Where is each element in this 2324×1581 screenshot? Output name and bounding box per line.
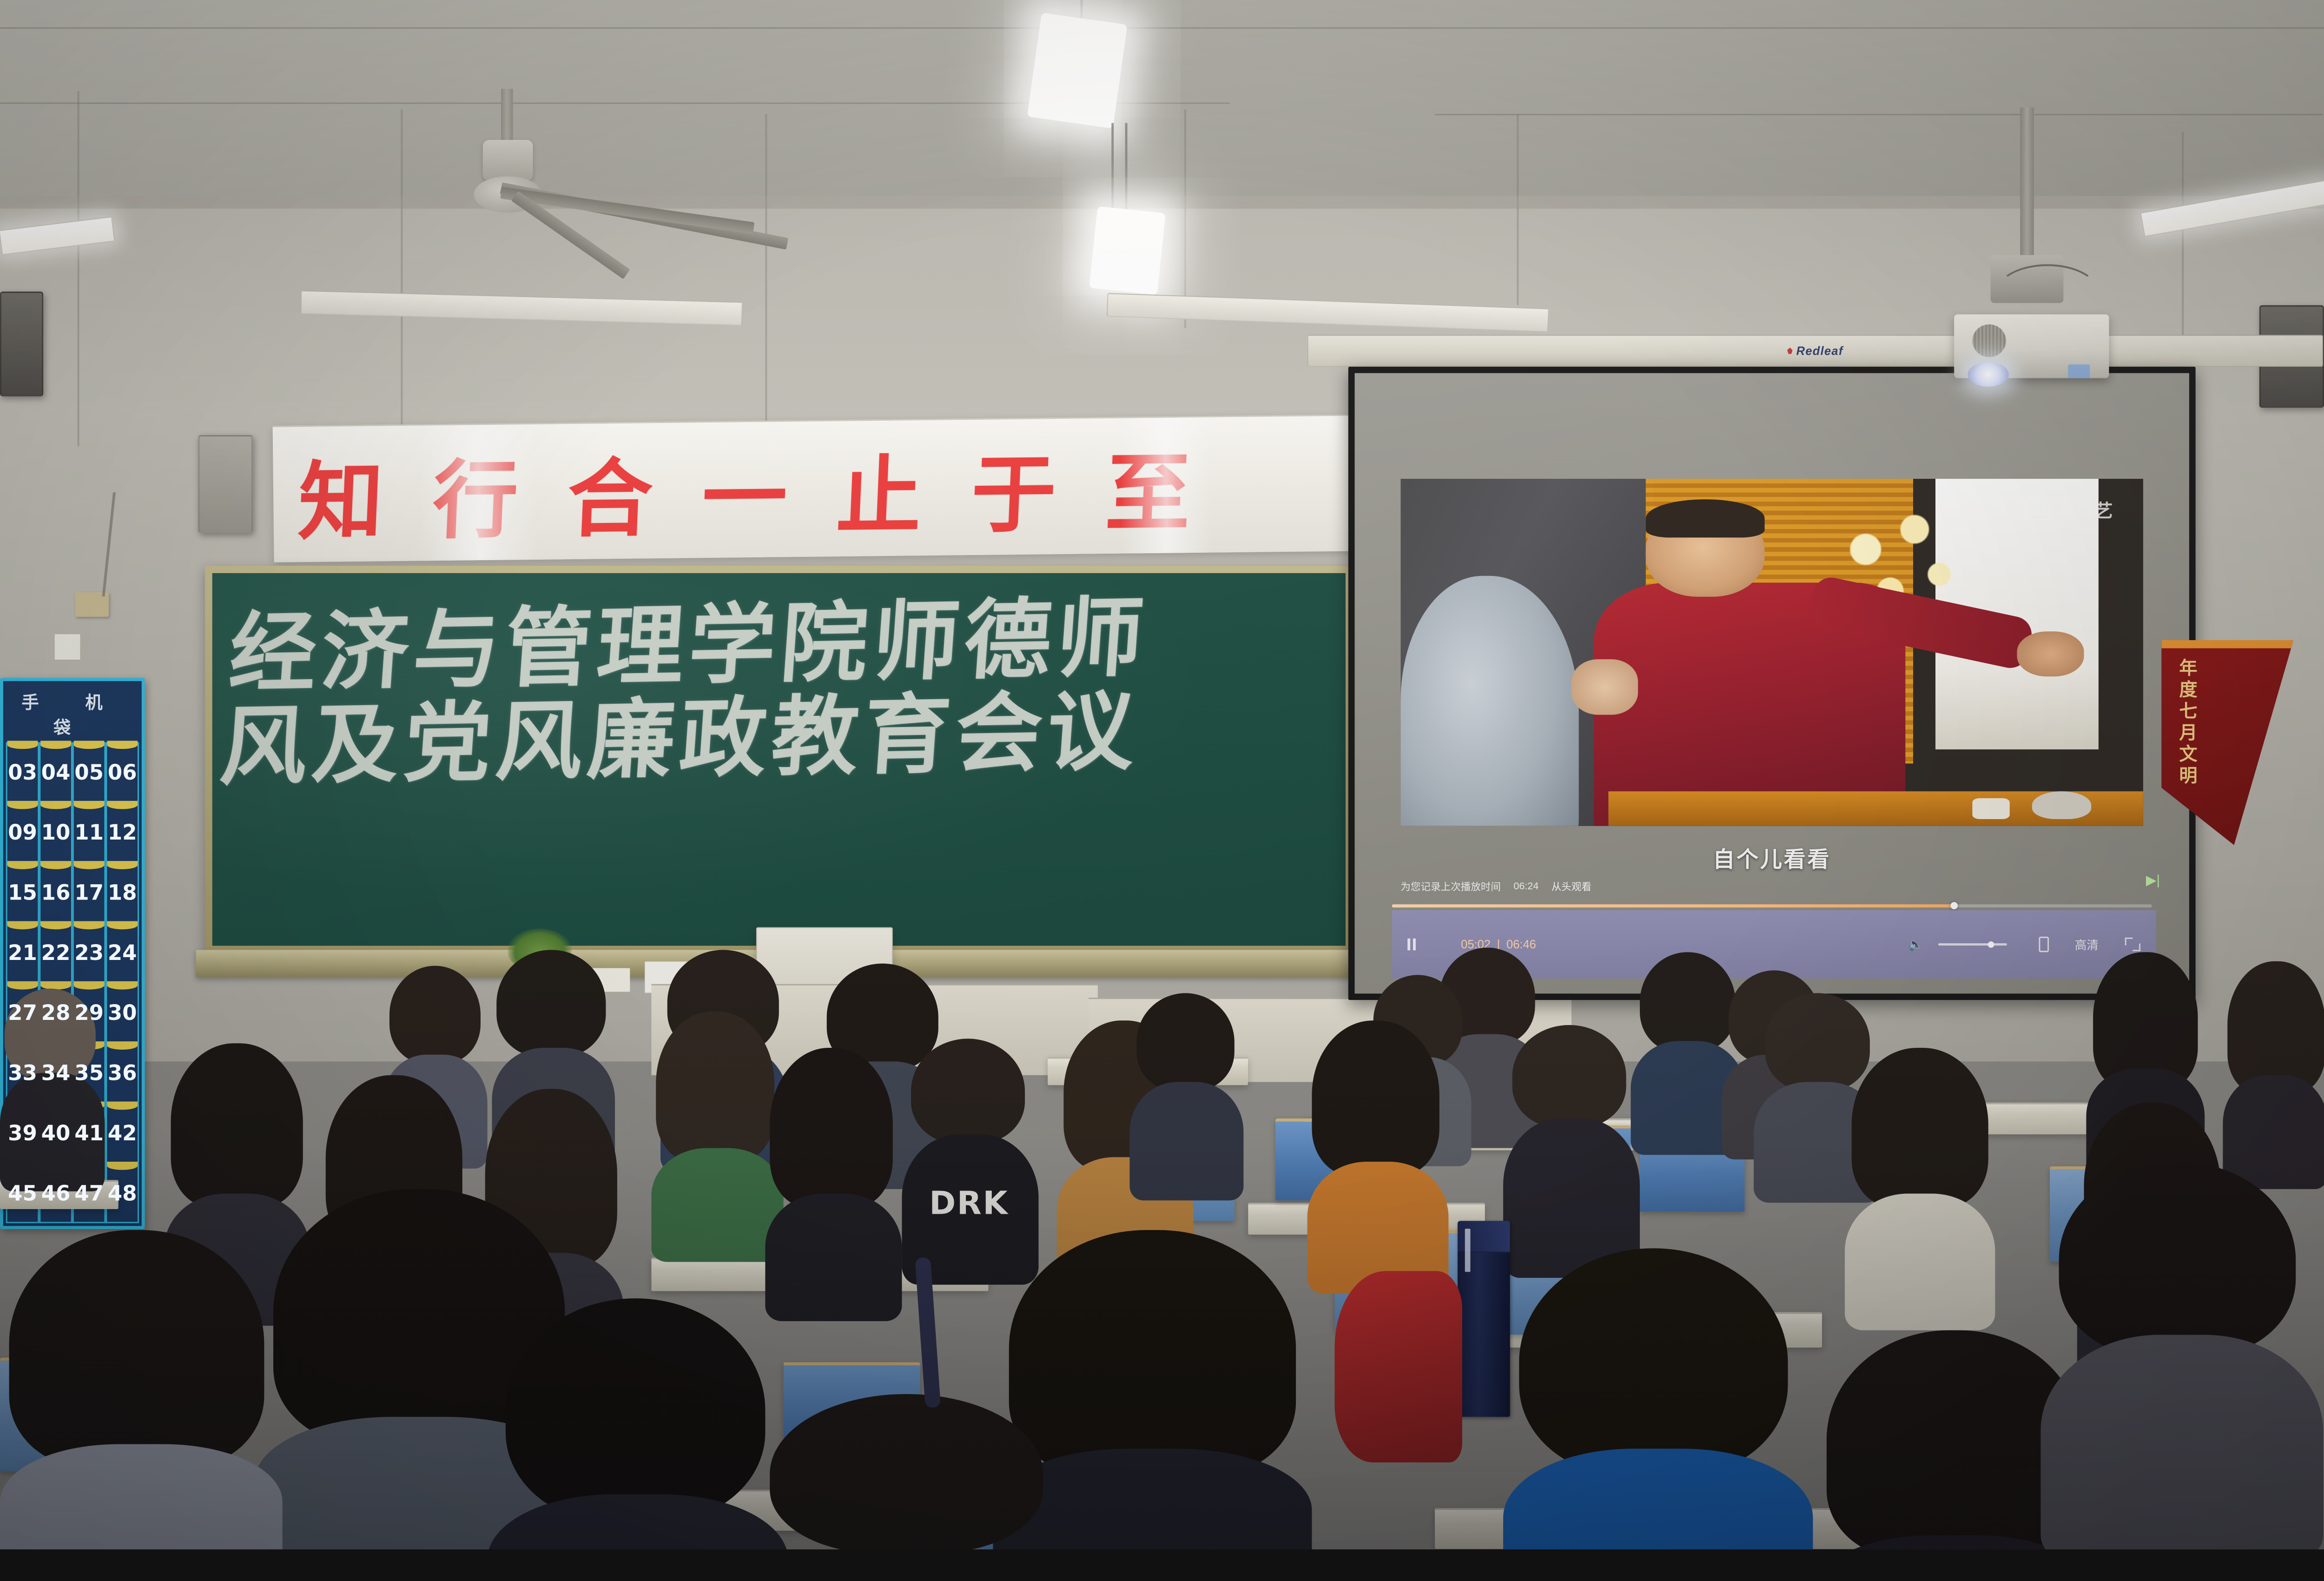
pocket-cell: 18	[106, 862, 139, 922]
video-cup	[1973, 798, 2010, 819]
pocket-number: 34	[41, 1060, 71, 1085]
pocket-cell: 36	[106, 1043, 139, 1103]
projector-vent	[1972, 324, 2006, 357]
pocket-cell: 17	[73, 862, 106, 922]
wall-band	[0, 196, 2324, 208]
pocket-number: 41	[74, 1121, 104, 1145]
pocket-number: 30	[108, 1000, 137, 1025]
audience-member	[1503, 1025, 1640, 1271]
hair	[770, 1394, 1043, 1549]
pocket-number: 33	[8, 1060, 37, 1085]
pocket-number: 45	[8, 1181, 37, 1205]
pocket-number: 22	[41, 940, 71, 965]
pocket-number: 16	[41, 880, 71, 905]
pocket-number: 18	[108, 880, 137, 905]
hair	[9, 1230, 264, 1467]
pocket-number: 09	[8, 820, 37, 845]
video-actor-hair	[1646, 499, 1765, 537]
brand-label: Redleaf	[1796, 344, 1843, 357]
fullscreen-button[interactable]	[2125, 938, 2140, 951]
wall-joint	[78, 91, 79, 446]
torso-light-coat	[1845, 1194, 1995, 1330]
pocket-cell: 11	[73, 802, 106, 862]
audience-member-foreground	[0, 1230, 283, 1549]
fan-motor	[483, 140, 533, 181]
hair	[1512, 1025, 1626, 1128]
jacket-logo-text: DRK	[929, 1184, 1009, 1222]
audience-member-foreground	[1503, 1248, 1813, 1549]
hair	[1312, 1020, 1439, 1175]
pocket-number: 47	[74, 1181, 104, 1205]
pocket-number: 24	[108, 940, 137, 965]
pocket-cell: 12	[106, 802, 139, 862]
pocket-cell: 22	[39, 923, 73, 983]
pocket-cell: 15	[6, 862, 40, 922]
pocket-cell: 09	[6, 802, 40, 862]
pocket-number: 06	[108, 760, 137, 785]
ceiling-seam	[1435, 114, 2323, 115]
hanging-fluorescent-light	[1027, 13, 1128, 128]
pocket-cell: 06	[106, 742, 139, 802]
pocket-number: 04	[41, 760, 71, 785]
pocket-cell: 04	[39, 742, 73, 802]
fullscreen-icon	[2125, 938, 2140, 951]
light-wire	[1125, 123, 1128, 214]
video-actor-hand-left	[1571, 659, 1638, 715]
hair	[2059, 1162, 2296, 1357]
pocket-number: 05	[74, 760, 104, 785]
audience-member-foreground	[2040, 1162, 2323, 1549]
iqiyi-logo-text: 爱奇艺	[2057, 496, 2113, 523]
pocket-number: 42	[108, 1121, 137, 1145]
pocket-cell: 23	[73, 923, 106, 983]
pocket-number: 15	[8, 880, 37, 905]
audience-member-foreground	[488, 1298, 788, 1549]
volume-button[interactable]: 🔈	[1908, 938, 1923, 952]
hair	[171, 1043, 303, 1207]
audience-member-foreground	[752, 1394, 1061, 1549]
torso	[2040, 1335, 2323, 1549]
resume-playback-tooltip[interactable]: 为您记录上次播放时间 06:24 从头观看	[1400, 879, 1591, 893]
wall-speaker-left	[198, 435, 253, 533]
audience-member	[2223, 961, 2324, 1166]
cast-button[interactable]	[2039, 937, 2049, 952]
audience-member	[1307, 1020, 1449, 1266]
pocket-cell: 10	[39, 802, 73, 862]
audience-member	[765, 1048, 902, 1285]
hair	[656, 1012, 774, 1162]
wall-joint	[401, 109, 403, 428]
iqiyi-logo-icon: iQIYI	[2024, 498, 2052, 521]
ceiling-fan	[446, 89, 947, 216]
pocket-number: 40	[41, 1121, 71, 1145]
pocket-cell: 16	[39, 862, 73, 922]
cast-icon	[2039, 937, 2049, 952]
pocket-cell: 05	[73, 742, 106, 802]
ceiling-seam	[0, 27, 2324, 29]
hair	[1519, 1248, 1788, 1476]
pocket-cell: 48	[106, 1163, 139, 1223]
torso	[651, 1148, 783, 1262]
light-wire	[1111, 123, 1114, 214]
pocket-number: 23	[74, 940, 104, 965]
blackboard-line-1: 经济与管理学院师德师	[227, 591, 1346, 697]
classroom-photograph: 知 行 合 一 止 于 至 经济与管理学院师德师 风及党风廉政教育会议 粉笔 R…	[0, 0, 2324, 1549]
torso-blue-jacket	[1503, 1449, 1813, 1549]
pocket-cell: 30	[106, 983, 139, 1043]
volume-slider[interactable]	[1938, 943, 2007, 946]
blackboard: 经济与管理学院师德师 风及党风廉政教育会议	[205, 566, 1353, 953]
pocket-cell: 42	[106, 1103, 139, 1163]
pocket-number: 17	[74, 880, 104, 905]
torso	[1129, 1082, 1243, 1201]
wall-speaker-far-left	[0, 291, 43, 396]
progress-knob[interactable]	[1950, 902, 1958, 910]
blackboard-line-2: 风及党风廉政教育会议	[218, 682, 1346, 793]
pocket-number: 46	[41, 1181, 71, 1205]
progress-bar[interactable]	[1392, 904, 2152, 907]
pocket-number: 12	[108, 820, 137, 845]
audience-member	[651, 1012, 783, 1230]
hair	[390, 966, 481, 1064]
thermos-highlight	[1465, 1229, 1470, 1272]
projection-screen-housing: Redleaf	[1307, 335, 2323, 367]
hair	[770, 1048, 893, 1207]
pause-button[interactable]	[1407, 939, 1416, 950]
quality-selector[interactable]: 高清	[2075, 936, 2099, 953]
torso	[0, 1444, 283, 1549]
video-teapot	[2032, 791, 2091, 819]
leaf-icon	[1787, 348, 1793, 354]
video-player[interactable]: iQIYI 爱奇艺 自个儿看看 为您记录上次播放时间 06:24 从头观看 ▶|	[1355, 373, 2189, 994]
video-frame[interactable]: iQIYI 爱奇艺	[1400, 479, 2143, 826]
audience-member	[1845, 1048, 1995, 1303]
pause-icon	[1407, 939, 1416, 950]
restart-from-beginning-link[interactable]: 从头观看	[1552, 879, 1591, 893]
torso	[488, 1494, 788, 1549]
thermos-flask	[1458, 1221, 1510, 1416]
hair	[496, 950, 606, 1057]
pocket-cell: 24	[106, 923, 139, 983]
projector-mount-rod	[2020, 107, 2033, 258]
blackboard-surface: 经济与管理学院师德师 风及党风廉政教育会议	[212, 573, 1346, 946]
projection-screen: iQIYI 爱奇艺 自个儿看看 为您记录上次播放时间 06:24 从头观看 ▶|	[1348, 367, 2196, 1000]
wall-banner: 知 行 合 一 止 于 至	[273, 414, 1358, 562]
pocket-number: 27	[8, 1000, 37, 1025]
video-actor-hand-right	[2017, 631, 2084, 676]
wall-switch-plate	[54, 633, 81, 661]
volume-icon: 🔈	[1908, 938, 1923, 952]
audience-member	[1129, 993, 1243, 1189]
pocket-number: 39	[8, 1121, 37, 1145]
resume-timestamp: 06:24	[1513, 880, 1538, 892]
hair	[506, 1298, 766, 1521]
pocket-number: 21	[8, 940, 37, 965]
resume-message: 为您记录上次播放时间	[1400, 879, 1501, 893]
fan-rod	[501, 89, 513, 143]
red-coat	[1334, 1271, 1462, 1462]
pocket-number: 03	[8, 760, 37, 785]
screen-brand: Redleaf	[1787, 344, 1843, 357]
hair	[1852, 1048, 1988, 1207]
pocket-cell: 03	[6, 742, 40, 802]
iqiyi-watermark: iQIYI 爱奇艺	[2024, 496, 2113, 523]
video-subtitle: 自个儿看看	[1355, 841, 2189, 873]
pocket-cell: 21	[6, 923, 40, 983]
next-episode-icon[interactable]: ▶|	[2146, 873, 2160, 888]
hanging-fluorescent-light	[1089, 206, 1166, 295]
pocket-number: 10	[41, 820, 71, 845]
projector-indicator-light	[2068, 364, 2090, 378]
pocket-chart-title: 手 机 袋	[6, 684, 139, 742]
hair	[2227, 961, 2324, 1093]
pocket-number: 48	[108, 1181, 137, 1205]
pocket-number: 36	[108, 1060, 137, 1085]
pocket-number: 28	[41, 1000, 71, 1025]
banner-text: 知 行 合 一 止 于 至	[273, 423, 1204, 556]
wall-joint	[1517, 114, 1519, 305]
pocket-number: 11	[74, 820, 104, 845]
pocket-number: 35	[74, 1060, 104, 1085]
hair	[911, 1039, 1025, 1143]
volume-knob[interactable]	[1987, 941, 1994, 948]
projector-lens	[1968, 362, 2009, 387]
projection-screen-surface: iQIYI 爱奇艺 自个儿看看 为您记录上次播放时间 06:24 从头观看 ▶|	[1355, 373, 2189, 994]
progress-fill	[1392, 904, 1954, 907]
hair	[1640, 952, 1736, 1052]
ceiling	[0, 0, 2324, 214]
pocket-number: 29	[74, 1000, 104, 1025]
hair	[1136, 993, 1235, 1091]
